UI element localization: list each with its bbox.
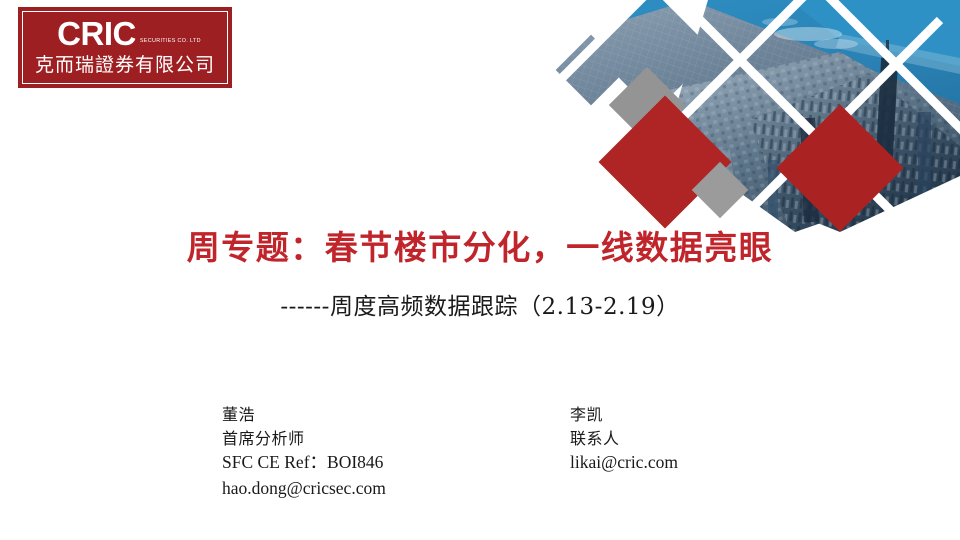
contact-email[interactable]: likai@cric.com <box>570 450 678 476</box>
contact-email[interactable]: hao.dong@cricsec.com <box>222 476 570 502</box>
page-subtitle: ------周度高频数据跟踪（2.13-2.19） <box>0 287 960 321</box>
title-slide: CRIC SECURITIES CO. LTD 克而瑞證券有限公司 周专题：春节… <box>0 0 960 540</box>
contact-secondary: 李凯 联系人 likai@cric.com <box>570 403 678 501</box>
mosaic-svg <box>540 0 960 232</box>
logo-brand-row: CRIC SECURITIES CO. LTD <box>23 18 227 49</box>
logo-company-name-cn: 克而瑞證券有限公司 <box>35 50 215 77</box>
page-title: 周专题：春节楼市分化，一线数据亮眼 <box>0 221 960 269</box>
logo-brand-text: CRIC <box>57 18 136 49</box>
diamond-mosaic-cityscape <box>540 0 960 232</box>
contact-role: 首席分析师 <box>222 427 570 451</box>
logo-frame: CRIC SECURITIES CO. LTD 克而瑞證券有限公司 <box>22 11 228 84</box>
contact-block: 董浩 首席分析师 SFC CE Ref：BOI846 hao.dong@cric… <box>222 403 862 501</box>
logo-brand-subtitle: SECURITIES CO. LTD <box>140 38 201 44</box>
contact-name: 李凯 <box>570 403 678 427</box>
photo-tiles <box>540 0 960 232</box>
contact-role: 联系人 <box>570 427 678 451</box>
contact-license: SFC CE Ref：BOI846 <box>222 450 570 476</box>
contact-primary: 董浩 首席分析师 SFC CE Ref：BOI846 hao.dong@cric… <box>222 403 570 501</box>
cric-logo: CRIC SECURITIES CO. LTD 克而瑞證券有限公司 <box>18 7 232 88</box>
contact-name: 董浩 <box>222 403 570 427</box>
